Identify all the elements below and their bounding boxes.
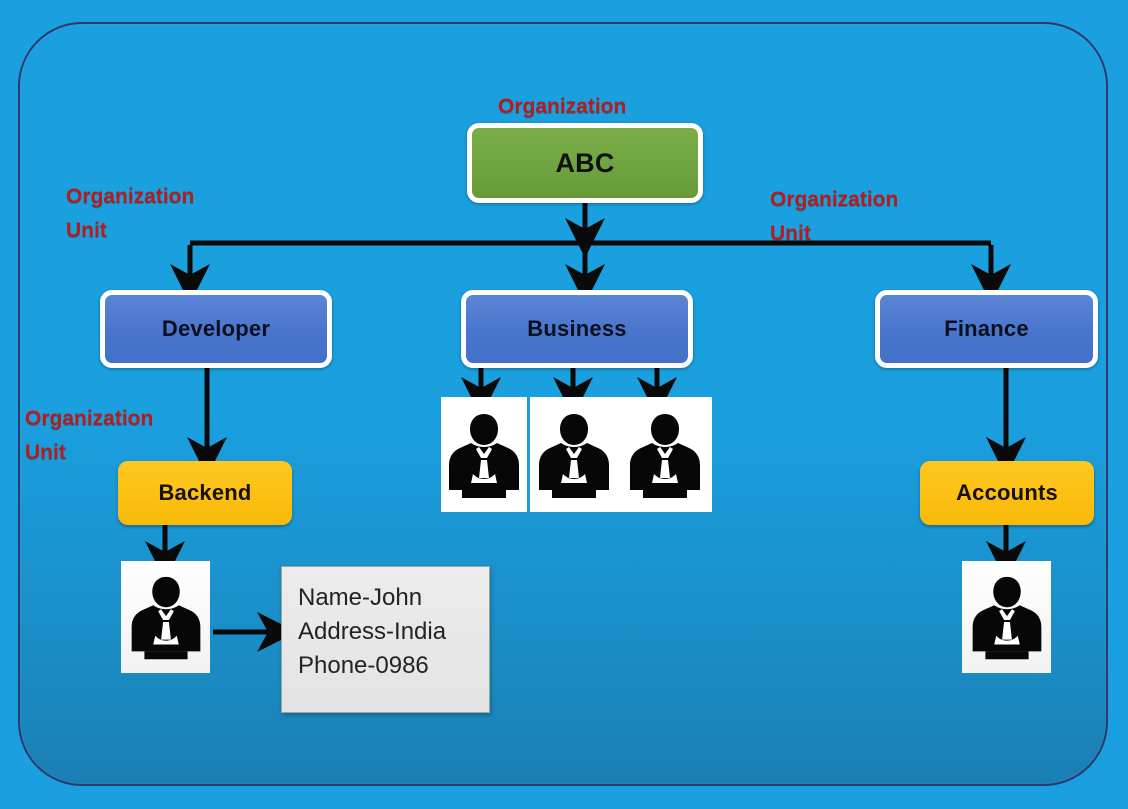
node-developer[interactable]: Developer [100,290,332,368]
detail-phone: Phone-0986 [298,649,473,683]
node-accounts[interactable]: Accounts [920,461,1094,525]
detail-name: Name-John [298,581,473,615]
backend-user[interactable] [121,561,210,673]
business-user-2[interactable] [530,397,618,512]
person-icon [536,404,612,512]
person-icon [968,567,1046,673]
node-business[interactable]: Business [461,290,693,368]
business-user-1[interactable] [441,397,527,512]
accounts-user[interactable] [962,561,1051,673]
user-detail-card[interactable]: Name-John Address-India Phone-0986 [281,566,490,713]
node-abc[interactable]: ABC [467,123,703,203]
node-backend[interactable]: Backend [118,461,292,525]
detail-address: Address-India [298,615,473,649]
business-user-group [441,397,712,512]
node-finance[interactable]: Finance [875,290,1098,368]
person-icon [627,404,703,512]
business-user-3[interactable] [618,397,712,512]
person-icon [446,404,522,512]
person-icon [127,567,205,673]
diagram-canvas: Organization Organization Unit Organizat… [0,0,1128,809]
